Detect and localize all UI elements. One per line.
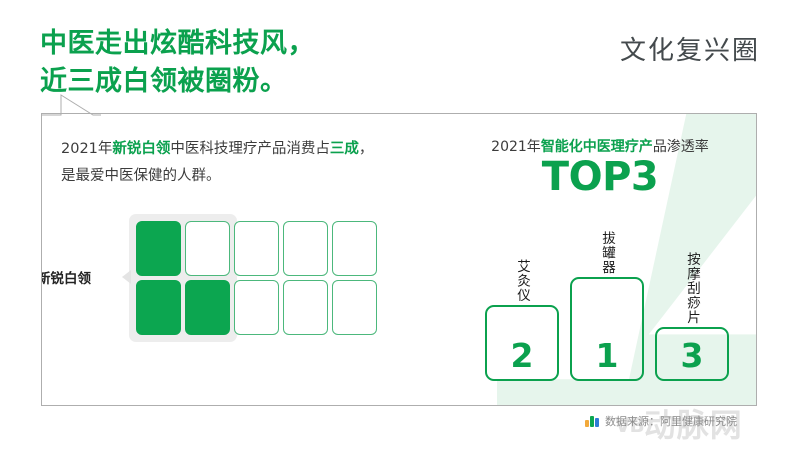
waffle-cell-filled bbox=[136, 280, 181, 335]
podium-item-rank-3: 按摩刮痧片 3 bbox=[655, 327, 729, 381]
left-panel: 2021年新锐白领中医科技理疗产品消费占三成， 是最爱中医保健的人群。 新锐白领 bbox=[42, 114, 442, 405]
brand-tag: 文化复兴圈 bbox=[620, 30, 760, 67]
waffle-cell-filled bbox=[185, 280, 230, 335]
top3-title-suffix: 品渗透率 bbox=[653, 139, 709, 155]
lead-prefix: 2021年 bbox=[61, 141, 112, 157]
waffle-cell-empty bbox=[234, 221, 279, 276]
bar-chart-icon bbox=[585, 415, 599, 427]
page-header: 中医走出炫酷科技风， 近三成白领被圈粉。 文化复兴圈 bbox=[0, 0, 800, 108]
page-title-line-1: 中医走出炫酷科技风， bbox=[40, 24, 560, 62]
podium-box: 艾灸仪 2 bbox=[485, 305, 559, 381]
waffle-cell-empty bbox=[234, 280, 279, 335]
podium-product-name: 按摩刮痧片 bbox=[682, 252, 702, 325]
waffle-cell-empty bbox=[185, 221, 230, 276]
top3-title-prefix: 2021年 bbox=[491, 139, 541, 155]
waffle-pointer-icon bbox=[122, 270, 131, 284]
lead-line-2: 是最爱中医保健的人群。 bbox=[61, 168, 221, 184]
content-card: 2021年新锐白领中医科技理疗产品消费占三成， 是最爱中医保健的人群。 新锐白领 bbox=[41, 113, 757, 406]
source-text: 数据来源：阿里健康研究院 bbox=[605, 413, 737, 429]
waffle-grid bbox=[134, 219, 379, 337]
page-title-line-2: 近三成白领被圈粉。 bbox=[40, 62, 560, 100]
podium-product-name: 艾灸仪 bbox=[512, 259, 532, 303]
top3-title-highlight: 智能化中医理疗产 bbox=[541, 139, 653, 155]
podium-rank-number: 1 bbox=[596, 339, 619, 379]
podium-rank-number: 3 bbox=[681, 339, 704, 379]
waffle-cell-filled bbox=[136, 221, 181, 276]
podium-rank-number: 2 bbox=[511, 339, 534, 379]
waffle-cell-empty bbox=[283, 221, 328, 276]
lead-highlight-share: 三成 bbox=[330, 141, 359, 157]
top3-heading: TOP3 bbox=[442, 154, 757, 200]
top3-subtitle: 2021年智能化中医理疗产品渗透率 bbox=[442, 136, 757, 156]
lead-paragraph: 2021年新锐白领中医科技理疗产品消费占三成， 是最爱中医保健的人群。 bbox=[61, 136, 431, 190]
podium-box: 拔罐器 1 bbox=[570, 277, 644, 381]
lead-highlight-audience: 新锐白领 bbox=[112, 141, 170, 157]
podium-chart: 艾灸仪 2 拔罐器 1 按摩刮痧片 3 bbox=[482, 214, 732, 399]
waffle-series-label: 新锐白领 bbox=[41, 267, 91, 287]
podium-item-rank-2: 艾灸仪 2 bbox=[485, 305, 559, 381]
podium-item-rank-1: 拔罐器 1 bbox=[570, 277, 644, 381]
podium-box: 按摩刮痧片 3 bbox=[655, 327, 729, 381]
page-title: 中医走出炫酷科技风， 近三成白领被圈粉。 bbox=[40, 24, 560, 101]
podium-product-name: 拔罐器 bbox=[597, 231, 617, 275]
waffle-cell-empty bbox=[332, 280, 377, 335]
card-corner-notch-icon bbox=[41, 94, 101, 116]
waffle-cell-empty bbox=[283, 280, 328, 335]
lead-suffix: ， bbox=[359, 141, 374, 157]
source-footer: 数据来源：阿里健康研究院 bbox=[585, 413, 737, 429]
right-panel: 2021年智能化中医理疗产品渗透率 TOP3 艾灸仪 2 拔罐器 1 bbox=[442, 114, 757, 405]
waffle-cell-empty bbox=[332, 221, 377, 276]
waffle-chart: 新锐白领 bbox=[134, 219, 379, 337]
lead-middle: 中医科技理疗产品消费占 bbox=[170, 141, 330, 157]
